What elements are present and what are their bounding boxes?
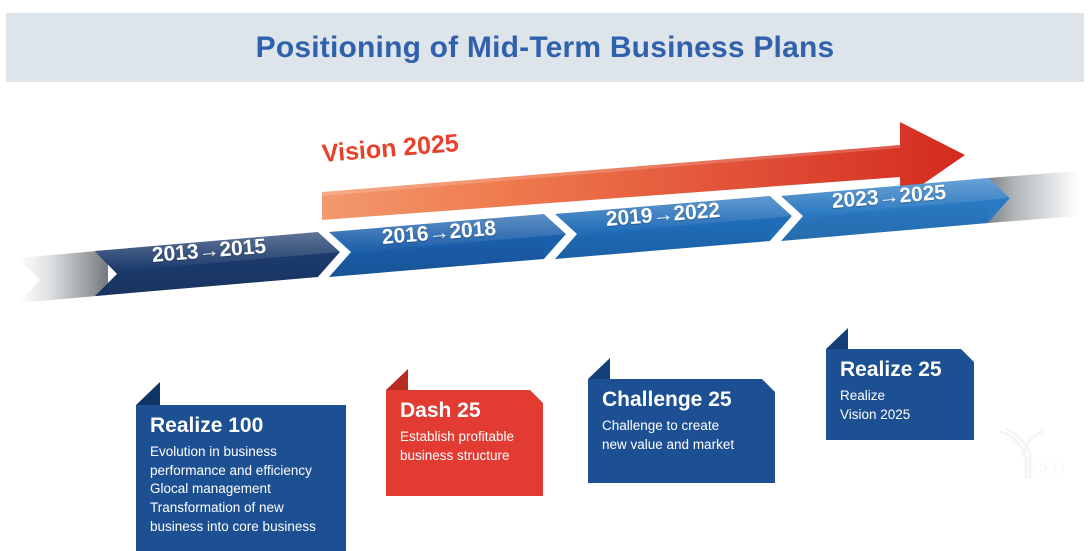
callout-challenge-25-title: Challenge 25 bbox=[602, 388, 763, 412]
tail-dash-25 bbox=[386, 369, 408, 390]
callout-realize-100-body: Evolution in business performance and ef… bbox=[150, 443, 334, 536]
page-title: Positioning of Mid-Term Business Plans bbox=[256, 31, 835, 65]
callout-realize-100-title: Realize 100 bbox=[150, 414, 334, 438]
callout-challenge-25[interactable]: Challenge 25 Challenge to create new val… bbox=[588, 379, 775, 483]
timeline-diagram: Vision 2025 2013→2015 2016→2018 2019→202… bbox=[0, 82, 1090, 491]
callout-dash-25-body: Establish profitable business structure bbox=[400, 428, 531, 465]
tail-realize-25 bbox=[826, 328, 848, 349]
svg-text:CEO: CEO bbox=[1032, 460, 1065, 477]
callout-challenge-25-body: Challenge to create new value and market bbox=[602, 417, 763, 454]
callout-realize-25-body: Realize Vision 2025 bbox=[840, 387, 962, 424]
watermark-logo: CEO bbox=[992, 423, 1072, 483]
callout-realize-25[interactable]: Realize 25 Realize Vision 2025 bbox=[826, 349, 974, 440]
tail-challenge-25 bbox=[588, 358, 610, 379]
callout-realize-100[interactable]: Realize 100 Evolution in business perfor… bbox=[136, 405, 346, 551]
header-band: Positioning of Mid-Term Business Plans bbox=[6, 13, 1084, 82]
callout-realize-25-title: Realize 25 bbox=[840, 358, 962, 382]
tail-realize-100 bbox=[136, 382, 160, 405]
band-left-fade bbox=[18, 250, 108, 303]
callout-dash-25-title: Dash 25 bbox=[400, 399, 531, 423]
callout-dash-25[interactable]: Dash 25 Establish profitable business st… bbox=[386, 390, 543, 496]
